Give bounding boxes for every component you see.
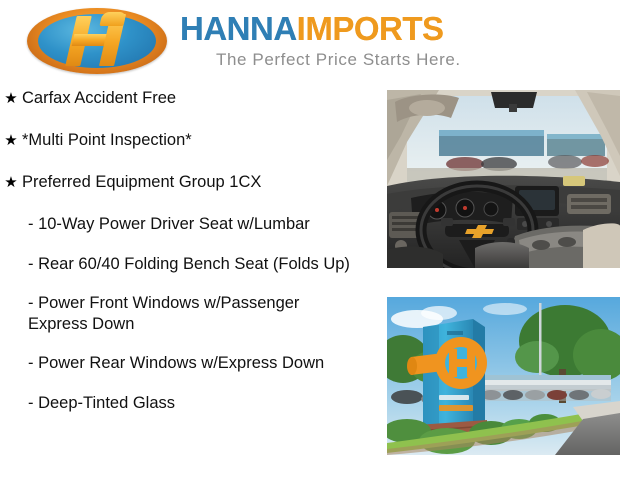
feature-label: Preferred Equipment Group 1CX [22, 172, 261, 192]
list-item: ★ *Multi Point Inspection* [0, 130, 378, 151]
hanna-imports-oval-h-logo-icon [27, 8, 167, 74]
logo-word-hanna: HANNA [180, 10, 297, 47]
logo-h-hook [99, 12, 126, 26]
star-bullet-icon: ★ [0, 172, 22, 193]
feature-label: *Multi Point Inspection* [22, 130, 192, 150]
list-item: ★ Preferred Equipment Group 1CX [0, 172, 378, 193]
vehicle-interior-photo[interactable] [387, 90, 620, 268]
star-bullet-icon: ★ [0, 88, 22, 109]
dealer-logo-header: HANNAIMPORTS The Perfect Price Starts He… [0, 0, 640, 84]
logo-wordmark: HANNAIMPORTS [180, 12, 444, 46]
dealership-sign-photo-graphic [387, 297, 620, 455]
dealership-sign-photo[interactable] [387, 297, 620, 455]
vehicle-interior-photo-graphic [387, 90, 620, 268]
list-item: - Power Front Windows w/Passenger Expres… [28, 293, 358, 334]
logo-word-imports: IMPORTS [297, 10, 444, 47]
logo-tagline: The Perfect Price Starts Here. [216, 50, 461, 70]
vehicle-feature-list: ★ Carfax Accident Free ★ *Multi Point In… [0, 88, 378, 432]
list-item: - 10-Way Power Driver Seat w/Lumbar [28, 214, 358, 235]
star-bullet-icon: ★ [0, 130, 22, 151]
list-item: - Power Rear Windows w/Express Down [28, 353, 358, 374]
feature-label: Carfax Accident Free [22, 88, 176, 108]
list-item: - Deep-Tinted Glass [28, 393, 358, 414]
list-item: ★ Carfax Accident Free [0, 88, 378, 109]
list-item: - Rear 60/40 Folding Bench Seat (Folds U… [28, 254, 358, 275]
